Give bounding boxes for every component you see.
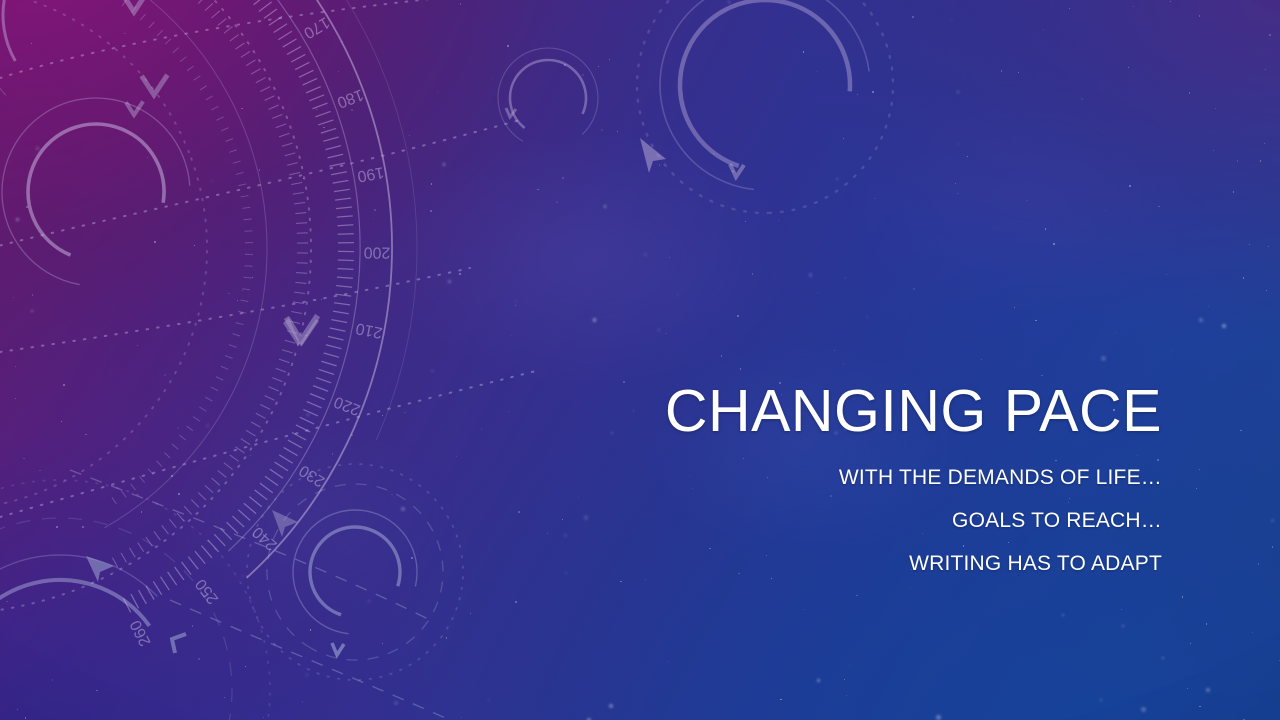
subtitle-line-1: WITH THE DEMANDS OF LIFE… [522,467,1162,488]
page-title: CHANGING PACE [522,382,1162,441]
title-slide: 140150160170180190200210220230240250260 [0,0,1280,720]
subtitle-line-3: WRITING HAS TO ADAPT [522,553,1162,574]
title-text-block: CHANGING PACE WITH THE DEMANDS OF LIFE… … [522,382,1162,574]
subtitle-line-2: GOALS TO REACH… [522,510,1162,531]
background-vignette [0,0,1280,720]
subtitle-list: WITH THE DEMANDS OF LIFE… GOALS TO REACH… [522,467,1162,574]
